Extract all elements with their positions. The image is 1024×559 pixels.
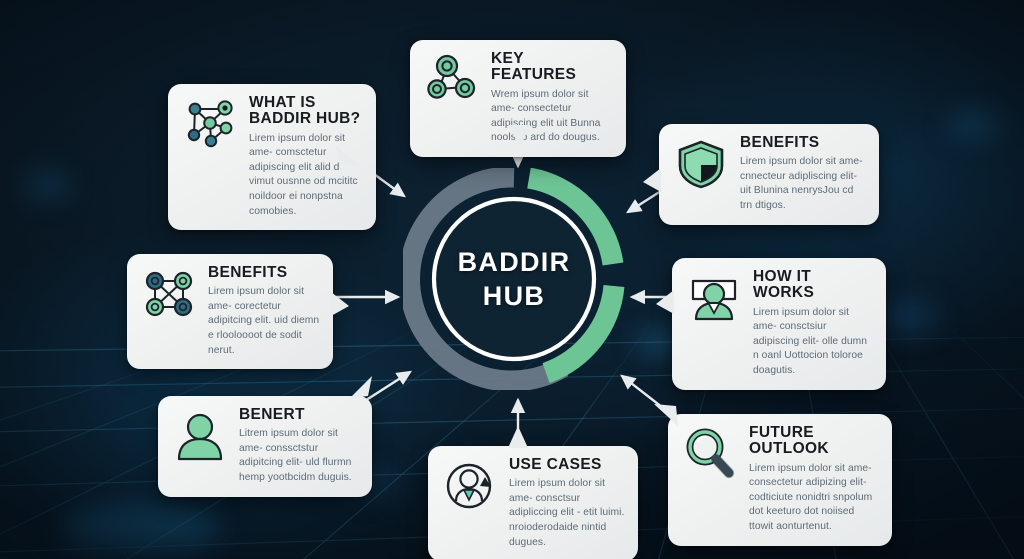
card-body: Lirem ipsum dolor sit ame- cnnecteur adi…: [740, 155, 866, 213]
card-tail: [508, 125, 534, 149]
magnifier-icon: [681, 425, 739, 483]
card-body: Lirem ipsum dolor sit ame- consctsur adi…: [509, 477, 625, 550]
network-square-icon: [140, 265, 198, 323]
card-body: Lirem ipsum dolor sit ame- comsctetur ad…: [249, 132, 363, 220]
card-title: USE CASES: [509, 457, 625, 473]
card-tail: [336, 146, 366, 170]
card-benefits-right[interactable]: BENEFITS Lirem ipsum dolor sit ame- cnne…: [659, 124, 879, 225]
card-body: Lirem ipsum dolor sit ame- corectetur ad…: [208, 285, 320, 358]
card-body: Lirem ipsum dolor sit ame- consctsiur ad…: [753, 306, 873, 379]
card-title: FUTURE OUTLOOK: [749, 425, 879, 458]
card-tail: [506, 426, 532, 450]
card-title: BENERT: [239, 407, 359, 423]
hub-title-line2: HUB: [483, 279, 545, 313]
card-how-it-works[interactable]: HOW IT WORKS Lirem ipsum dolor sit ame- …: [672, 258, 886, 390]
card-title: WHAT IS BADDIR HUB?: [249, 95, 363, 128]
card-body: Lirem ipsum dolor sit ame- consectetur a…: [749, 462, 879, 535]
card-title: BENEFITS: [208, 265, 320, 281]
card-benert[interactable]: BENERT Litrem ipsum dolor sit ame- conss…: [158, 396, 372, 497]
card-tail: [656, 288, 676, 318]
triangle-nodes-icon: [423, 51, 481, 109]
card-tail: [329, 290, 349, 320]
card-key-features[interactable]: KEY FEATURES Wrem ipsum dolor sit ame- c…: [410, 40, 626, 157]
card-tail: [650, 400, 680, 428]
user-avatar-icon: [171, 407, 229, 465]
central-hub: BADDIR HUB: [403, 168, 625, 390]
hub-title-line1: BADDIR: [458, 245, 571, 279]
card-body: Litrem ipsum dolor sit ame- conssctstur …: [239, 427, 359, 485]
card-future-outlook[interactable]: FUTURE OUTLOOK Lirem ipsum dolor sit ame…: [668, 414, 892, 546]
card-tail: [348, 376, 376, 400]
infographic-canvas: BADDIR HUB: [0, 0, 1024, 559]
card-what-is-baddir-hub[interactable]: WHAT IS BADDIR HUB? Lirem ipsum dolor si…: [168, 84, 376, 230]
shield-icon: [672, 135, 730, 193]
user-cycle-icon: [441, 457, 499, 515]
card-tail: [643, 166, 663, 196]
card-title: KEY FEATURES: [491, 51, 613, 84]
card-title: BENEFITS: [740, 135, 866, 151]
card-benefits-left[interactable]: BENEFITS Lirem ipsum dolor sit ame- core…: [127, 254, 333, 369]
person-speech-icon: [685, 269, 743, 327]
card-use-cases[interactable]: USE CASES Lirem ipsum dolor sit ame- con…: [428, 446, 638, 559]
card-title: HOW IT WORKS: [753, 269, 873, 302]
network-graph-icon: [181, 95, 239, 153]
hub-title: BADDIR HUB: [403, 168, 625, 390]
